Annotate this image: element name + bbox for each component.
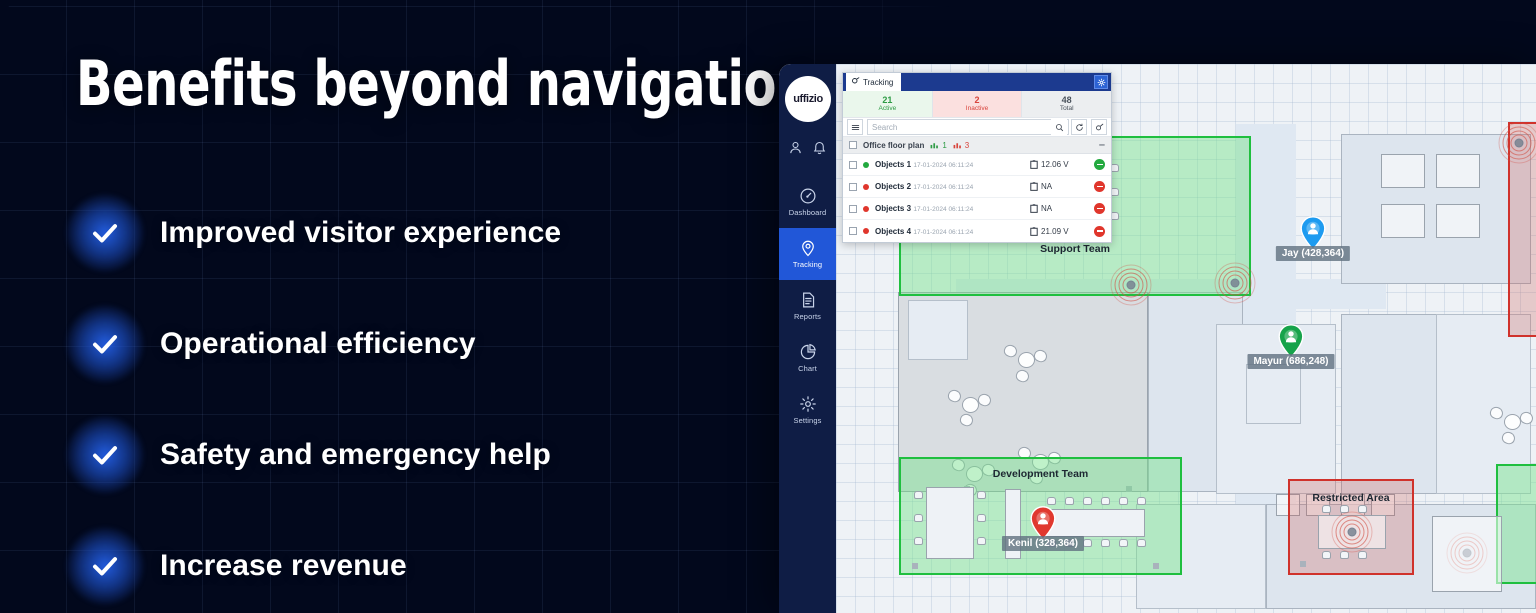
bell-icon[interactable] (812, 140, 827, 155)
page-title: Benefits beyond navigation (76, 52, 810, 116)
desk (926, 487, 974, 559)
stat-value: 48 (1062, 96, 1072, 105)
desk (1432, 516, 1502, 592)
group-row[interactable]: Office floor plan 1 3 – (843, 137, 1111, 154)
tracking-panel: Tracking 21 Active 2 Inactive (842, 72, 1112, 243)
chair (977, 537, 986, 545)
row-status-badge[interactable] (1094, 159, 1105, 170)
location-pin-icon (1300, 216, 1326, 250)
panel-settings-button[interactable] (1094, 75, 1108, 89)
row-main: Objects 2 17-01-2024 06:11:24 (875, 181, 1024, 191)
person-label: Mayur (686,248) (1247, 354, 1334, 369)
group-inactive-count: 3 (953, 141, 969, 150)
list-item: Operational efficiency (76, 301, 736, 387)
table-row[interactable]: Objects 3 17-01-2024 06:11:24 NA (843, 198, 1111, 220)
battery-icon (1030, 227, 1038, 236)
stat-value: 21 (882, 96, 892, 105)
table-row[interactable]: Objects 2 17-01-2024 06:11:24 NA (843, 176, 1111, 198)
search-icon[interactable] (1051, 119, 1067, 135)
chair (914, 537, 923, 545)
status-dot (863, 162, 869, 168)
chair (1322, 505, 1331, 513)
person-label: Jay (428,364) (1276, 246, 1350, 261)
group-checkbox[interactable] (849, 141, 857, 149)
check-badge (76, 315, 134, 373)
table-row[interactable]: Objects 1 17-01-2024 06:11:24 12.06 V (843, 154, 1111, 176)
desk (1381, 154, 1425, 188)
floor-marker (1300, 561, 1306, 567)
object-name: Objects 3 (875, 204, 911, 213)
sidebar-item-label: Settings (794, 416, 822, 425)
chair (914, 514, 923, 522)
list-item-label: Operational efficiency (160, 327, 476, 361)
sidebar-item-reports[interactable]: Reports (779, 280, 836, 332)
object-voltage: 12.06 V (1030, 160, 1088, 169)
chair (1137, 497, 1146, 505)
chair (1065, 497, 1074, 505)
sidebar-top-icons (779, 134, 836, 160)
search-input[interactable]: Search (867, 119, 1069, 135)
sidebar-item-label: Tracking (793, 260, 822, 269)
app-screenshot: Support Team (779, 64, 1536, 613)
tracking-tab[interactable]: Tracking (846, 73, 901, 91)
chair (1047, 497, 1056, 505)
chair (1083, 539, 1092, 547)
location-pin-icon (799, 239, 817, 257)
person-pin-kenil[interactable]: Kenil (328,364) (1030, 506, 1056, 540)
slide-canvas: Benefits beyond navigation Improved visi… (0, 0, 1536, 613)
object-voltage: NA (1030, 182, 1088, 191)
object-voltage: NA (1030, 204, 1088, 213)
list-item-label: Increase revenue (160, 549, 407, 583)
zone-restricted-area[interactable]: Restricted Area (1288, 479, 1414, 575)
pie-chart-icon (799, 343, 817, 361)
object-name: Objects 1 (875, 160, 911, 169)
check-icon (90, 329, 120, 359)
object-time: 17-01-2024 06:11:24 (913, 162, 973, 169)
tracking-titlebar: Tracking (843, 73, 1111, 91)
beacon-marker (1214, 262, 1256, 304)
refresh-icon[interactable] (1071, 119, 1087, 135)
left-content: Benefits beyond navigation Improved visi… (0, 0, 790, 613)
check-icon (90, 218, 120, 248)
check-icon (90, 440, 120, 470)
location-pin-icon (1030, 506, 1056, 540)
object-voltage: 21.09 V (1030, 227, 1088, 236)
person-pin-jay[interactable]: Jay (428,364) (1300, 216, 1326, 250)
room (908, 300, 968, 360)
list-item-label: Safety and emergency help (160, 438, 551, 472)
hamburger-icon[interactable] (847, 119, 863, 135)
status-dot (863, 206, 869, 212)
sidebar-item-settings[interactable]: Settings (779, 384, 836, 436)
benefits-list: Improved visitor experience Operational … (76, 190, 736, 613)
floor-marker (912, 563, 918, 569)
locate-icon[interactable] (1091, 119, 1107, 135)
sidebar-item-label: Dashboard (789, 208, 827, 217)
app-sidebar: uffizio (779, 64, 836, 613)
status-dot (863, 228, 869, 234)
gear-icon (799, 395, 817, 413)
sidebar-item-dashboard[interactable]: Dashboard (779, 176, 836, 228)
row-status-badge[interactable] (1094, 203, 1105, 214)
round-table (1018, 352, 1035, 368)
list-item: Increase revenue (76, 523, 736, 609)
search-placeholder: Search (872, 123, 897, 132)
tracking-icon (851, 77, 860, 88)
sidebar-item-label: Chart (798, 364, 817, 373)
chair (1119, 539, 1128, 547)
object-name: Objects 4 (875, 227, 911, 236)
zone-label: Restricted Area (1312, 492, 1389, 504)
object-time: 17-01-2024 06:11:24 (913, 229, 973, 236)
list-item-label: Improved visitor experience (160, 216, 561, 250)
stat-total[interactable]: 48 Total (1022, 91, 1111, 117)
chair (1101, 539, 1110, 547)
speedometer-icon (799, 187, 817, 205)
person-label: Kenil (328,364) (1002, 536, 1084, 551)
person-pin-mayur[interactable]: Mayur (686,248) (1278, 324, 1304, 358)
object-time: 17-01-2024 06:11:24 (913, 206, 973, 213)
check-icon (90, 551, 120, 581)
chair (1083, 497, 1092, 505)
stat-label: Active (878, 105, 896, 112)
desk (1045, 509, 1145, 537)
sidebar-item-label: Reports (794, 312, 821, 321)
tracking-toolbar: Search (843, 117, 1111, 137)
chair (914, 491, 923, 499)
chart-bar-green-icon (930, 142, 939, 149)
chair (1101, 497, 1110, 505)
row-status-badge[interactable] (1094, 226, 1105, 237)
row-main: Objects 1 17-01-2024 06:11:24 (875, 159, 1024, 169)
zone-label: Development Team (993, 468, 1089, 480)
user-icon[interactable] (788, 140, 803, 155)
stat-label: Total (1060, 105, 1074, 112)
row-status-badge[interactable] (1094, 181, 1105, 192)
sidebar-item-tracking[interactable]: Tracking (779, 228, 836, 280)
chair (977, 514, 986, 522)
document-icon (799, 291, 817, 309)
group-active-count: 1 (930, 141, 946, 150)
sidebar-item-chart[interactable]: Chart (779, 332, 836, 384)
chair (977, 491, 986, 499)
row-checkbox[interactable] (849, 161, 857, 169)
row-main: Objects 4 17-01-2024 06:11:24 (875, 226, 1024, 236)
check-badge (76, 426, 134, 484)
tracking-tab-label: Tracking (863, 78, 893, 87)
chair (1322, 551, 1331, 559)
row-checkbox[interactable] (849, 183, 857, 191)
desk (1436, 204, 1480, 238)
group-name: Office floor plan (863, 141, 924, 150)
list-item: Improved visitor experience (76, 190, 736, 276)
stat-value: 2 (975, 96, 980, 105)
round-table (1504, 414, 1521, 430)
floor-marker (1153, 563, 1159, 569)
desk (1436, 154, 1480, 188)
battery-icon (1030, 204, 1038, 213)
stat-inactive[interactable]: 2 Inactive (933, 91, 1023, 117)
list-item: Safety and emergency help (76, 412, 736, 498)
beacon-marker (1498, 122, 1536, 164)
battery-icon (1030, 182, 1038, 191)
object-name: Objects 2 (875, 182, 911, 191)
round-table (962, 397, 979, 413)
status-dot (863, 184, 869, 190)
zone-label: Support Team (1040, 243, 1110, 255)
row-checkbox[interactable] (849, 227, 857, 235)
tracking-stats: 21 Active 2 Inactive 48 Total (843, 91, 1111, 117)
app-logo-text: uffizio (793, 93, 823, 105)
room (1246, 364, 1301, 424)
desk (1381, 204, 1425, 238)
chart-bar-red-icon (953, 142, 962, 149)
stat-active[interactable]: 21 Active (843, 91, 933, 117)
chair (1137, 539, 1146, 547)
minus-icon[interactable]: – (1099, 140, 1105, 151)
table-row[interactable]: Objects 4 17-01-2024 06:11:24 21.09 V (843, 220, 1111, 242)
check-badge (76, 537, 134, 595)
battery-icon (1030, 160, 1038, 169)
check-badge (76, 204, 134, 262)
location-pin-icon (1278, 324, 1304, 358)
beacon-marker (1110, 264, 1152, 306)
row-checkbox[interactable] (849, 205, 857, 213)
zone-partial-right[interactable] (1496, 464, 1536, 584)
stat-label: Inactive (966, 105, 988, 112)
beacon-marker (1331, 511, 1373, 553)
row-main: Objects 3 17-01-2024 06:11:24 (875, 203, 1024, 213)
chair (1119, 497, 1128, 505)
object-time: 17-01-2024 06:11:24 (913, 184, 973, 191)
app-logo: uffizio (785, 76, 831, 122)
